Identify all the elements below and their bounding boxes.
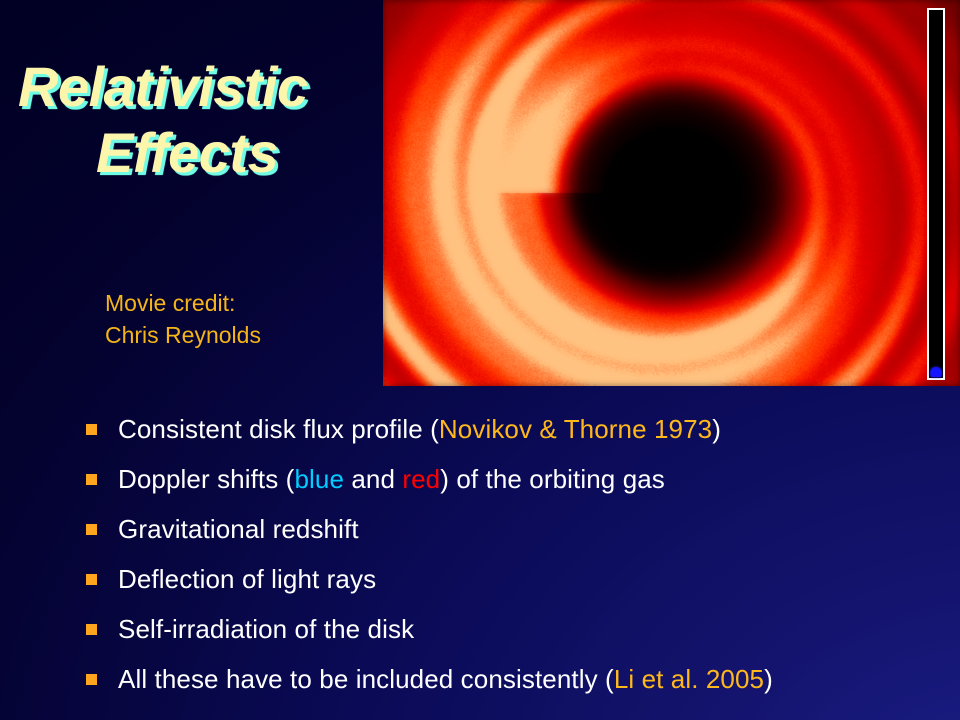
bullet-item-all-these-have-to-be-included-consistently: All these have to be included consistent… (86, 654, 946, 704)
presentation-slide: Relativistic Effects Movie credit: Chris… (0, 0, 960, 720)
bullet-text: All these have to be included consistent… (118, 665, 946, 694)
bullet-square-icon (86, 574, 97, 585)
bullet-segment: Doppler shifts ( (118, 464, 294, 494)
bullet-segment: red (402, 464, 440, 494)
bullet-text: Deflection of light rays (118, 565, 946, 594)
bullet-segment: Li et al. 2005 (614, 664, 764, 694)
bullet-item-consistent-disk-flux-profile: Consistent disk flux profile (Novikov & … (86, 404, 946, 454)
movie-credit-line-1: Movie credit: (105, 288, 261, 320)
bullet-segment: Novikov & Thorne 1973 (439, 414, 712, 444)
bullet-list: Consistent disk flux profile (Novikov & … (86, 404, 946, 704)
bullet-square-icon (86, 624, 97, 635)
bullet-text: Doppler shifts (blue and red) of the orb… (118, 465, 946, 494)
bullet-segment: ) of the orbiting gas (440, 464, 665, 494)
bullet-square-icon (86, 424, 97, 435)
colorbar-marker (931, 367, 942, 377)
bullet-item-self-irradiation-of-the-disk: Self-irradiation of the disk (86, 604, 946, 654)
accretion-disk-visualization (383, 0, 960, 386)
slide-title: Relativistic Effects (0, 58, 380, 181)
bullet-segment: and (344, 464, 402, 494)
title-line-2: Effects (0, 124, 380, 182)
bullet-segment: Gravitational redshift (118, 514, 359, 544)
movie-credit-line-2: Chris Reynolds (105, 320, 261, 352)
bullet-item-doppler-shifts: Doppler shifts (blue and red) of the orb… (86, 454, 946, 504)
bullet-segment: Deflection of light rays (118, 564, 376, 594)
bullet-segment: ) (764, 664, 773, 694)
bullet-segment: Consistent disk flux profile ( (118, 414, 439, 444)
bullet-segment: ) (712, 414, 721, 444)
movie-credit: Movie credit: Chris Reynolds (105, 288, 261, 351)
bullet-item-gravitational-redshift: Gravitational redshift (86, 504, 946, 554)
bullet-segment: All these have to be included consistent… (118, 664, 614, 694)
bullet-square-icon (86, 674, 97, 685)
bullet-text: Gravitational redshift (118, 515, 946, 544)
title-line-1: Relativistic (0, 58, 380, 116)
bullet-segment: Self-irradiation of the disk (118, 614, 414, 644)
colorbar (927, 8, 945, 380)
movie-image[interactable] (383, 0, 960, 386)
bullet-square-icon (86, 524, 97, 535)
bullet-item-deflection-of-light-rays: Deflection of light rays (86, 554, 946, 604)
bullet-square-icon (86, 474, 97, 485)
bullet-text: Self-irradiation of the disk (118, 615, 946, 644)
bullet-segment: blue (294, 464, 344, 494)
bullet-text: Consistent disk flux profile (Novikov & … (118, 415, 946, 444)
